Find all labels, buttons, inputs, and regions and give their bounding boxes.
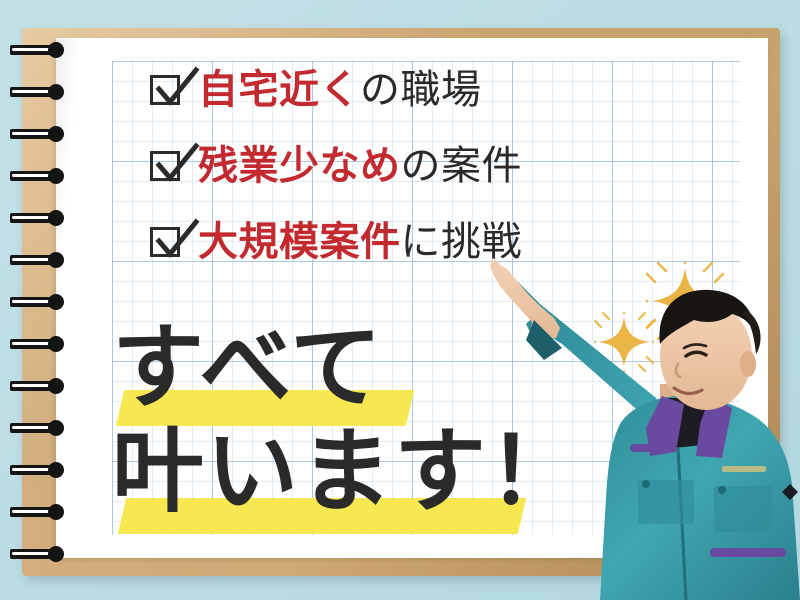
ear xyxy=(740,351,756,377)
checklist-item[interactable]: 残業少なめの案件 xyxy=(150,128,670,204)
worker-photo xyxy=(470,248,800,600)
spiral-ring-bead xyxy=(48,210,64,226)
purple-shoulder-trim xyxy=(630,444,676,452)
chest-logo xyxy=(722,466,766,472)
spiral-ring xyxy=(8,336,80,352)
checkbox-checked-icon[interactable] xyxy=(150,227,180,257)
checklist-item-rest: の職場 xyxy=(360,67,482,113)
spiral-ring-bead xyxy=(48,252,64,268)
spiral-ring-bead xyxy=(48,84,64,100)
spiral-ring xyxy=(8,84,80,100)
spiral-ring xyxy=(8,252,80,268)
checklist-item-highlight: 残業少なめ xyxy=(198,143,401,189)
checklist-item-text: 残業少なめの案件 xyxy=(198,146,522,186)
checklist-item[interactable]: 自宅近くの職場 xyxy=(150,52,670,128)
poster-canvas: 自宅近くの職場残業少なめの案件大規模案件に挑戦 すべて 叶います！ xyxy=(0,0,800,600)
spiral-ring xyxy=(8,546,80,562)
spiral-ring-bead xyxy=(48,336,64,352)
spiral-ring xyxy=(8,420,80,436)
spiral-ring xyxy=(8,126,80,142)
spiral-ring-bead xyxy=(48,546,64,562)
checklist: 自宅近くの職場残業少なめの案件大規模案件に挑戦 xyxy=(150,52,670,280)
spiral-ring-bead xyxy=(48,462,64,478)
checkbox-checked-icon[interactable] xyxy=(150,75,180,105)
spiral-ring-bead xyxy=(48,378,64,394)
spiral-ring xyxy=(8,42,80,58)
spiral-ring xyxy=(8,378,80,394)
spiral-ring-bead xyxy=(48,168,64,184)
spiral-ring-bead xyxy=(48,294,64,310)
spiral-binding xyxy=(8,38,84,562)
checklist-item-rest: の案件 xyxy=(401,143,523,189)
spiral-ring-bead xyxy=(48,42,64,58)
spiral-ring xyxy=(8,462,80,478)
pocket-button-left xyxy=(642,480,650,488)
spiral-ring-bead xyxy=(48,420,64,436)
checklist-item-highlight: 自宅近く xyxy=(198,67,360,113)
spiral-ring xyxy=(8,294,80,310)
spiral-ring xyxy=(8,504,80,520)
purple-zip-trim xyxy=(710,548,786,557)
pocket-button-right xyxy=(718,486,726,494)
checklist-item-highlight: 大規模案件 xyxy=(198,219,401,265)
spiral-ring-bead xyxy=(48,126,64,142)
spiral-ring-bead xyxy=(48,504,64,520)
checkbox-checked-icon[interactable] xyxy=(150,151,180,181)
spiral-ring xyxy=(8,168,80,184)
spiral-ring xyxy=(8,210,80,226)
checklist-item-text: 自宅近くの職場 xyxy=(198,70,482,110)
